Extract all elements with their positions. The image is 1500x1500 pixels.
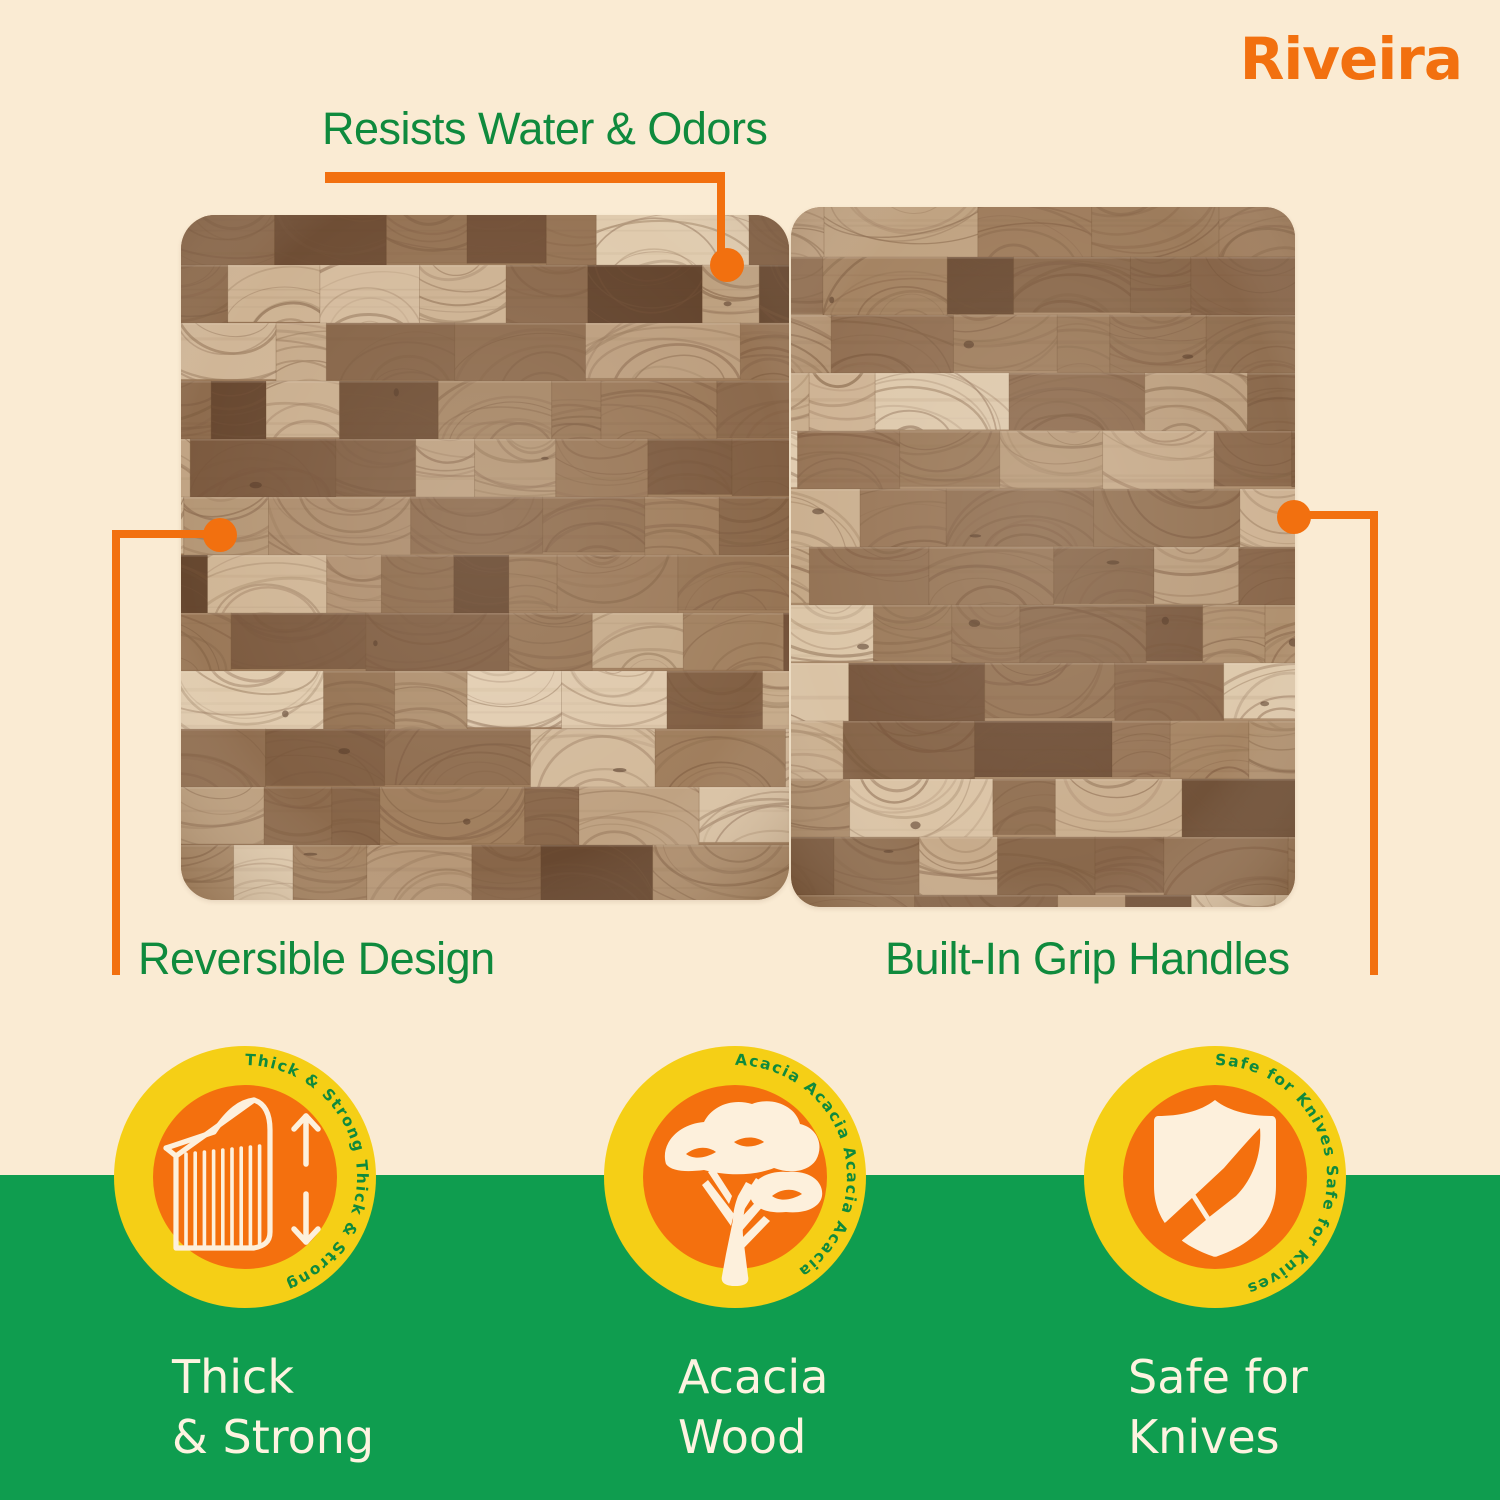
product-image-board-right: [791, 207, 1295, 907]
callout-label-built-in-grip-handles: Built-In Grip Handles: [885, 933, 1290, 985]
callout-line-right-vertical: [1370, 511, 1378, 975]
callout-label-reversible-design: Reversible Design: [138, 933, 495, 985]
badge-caption-safe-for-knives: Safe for Knives: [1128, 1348, 1308, 1468]
brand-logo: Riveira: [1240, 30, 1462, 88]
badge-thick-and-strong: Thick & Strong Thick & Strong: [114, 1046, 376, 1308]
badge-acacia-wood: Acacia Acacia Acacia Acacia: [604, 1046, 866, 1308]
callout-line-top-horizontal: [325, 172, 725, 183]
callout-label-resists-water-odors: Resists Water & Odors: [322, 103, 767, 155]
badge-caption-acacia-wood: Acacia Wood: [678, 1348, 828, 1468]
infographic-canvas: Riveira Resists Water & Odors Reversible…: [0, 0, 1500, 1500]
badge-safe-for-knives: Safe for Knives Safe for Knives: [1084, 1046, 1346, 1308]
callout-dot-right: [1277, 500, 1311, 534]
product-image-board-left: [181, 215, 789, 900]
callout-dot-left: [203, 518, 237, 552]
callout-line-left-vertical: [112, 530, 120, 975]
badge-caption-thick-and-strong: Thick & Strong: [172, 1348, 374, 1468]
callout-dot-top: [710, 248, 744, 282]
